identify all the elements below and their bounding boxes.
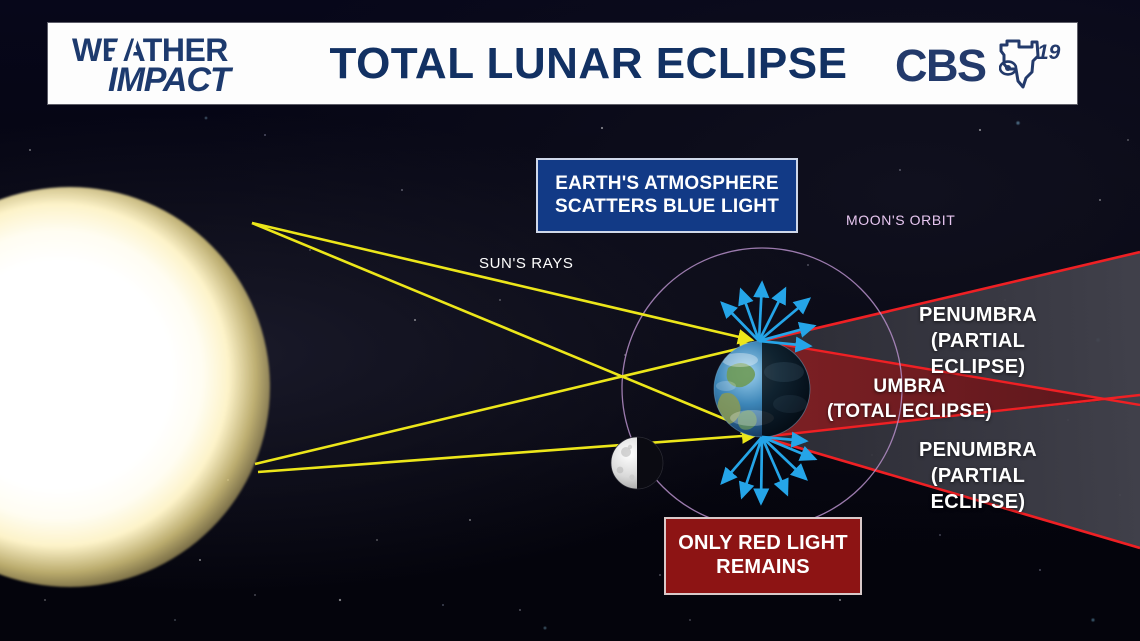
penumbra-top-label: PENUMBRA (PARTIAL ECLIPSE) bbox=[919, 302, 1037, 380]
umbra-label: UMBRA (TOTAL ECLIPSE) bbox=[827, 375, 992, 424]
penumbra-bottom-label: PENUMBRA (PARTIAL ECLIPSE) bbox=[919, 437, 1037, 515]
channel-number: 19 bbox=[1037, 41, 1060, 65]
suns-rays-label: SUN'S RAYS bbox=[479, 255, 573, 272]
impact-logo-text: IMPACT bbox=[108, 61, 230, 100]
moons-orbit-label: MOON'S ORBIT bbox=[846, 212, 955, 228]
page-title: TOTAL LUNAR ECLIPSE bbox=[296, 39, 891, 89]
red-light-callout: ONLY RED LIGHT REMAINS bbox=[664, 517, 862, 595]
cbs19-logo: CBS 19 bbox=[891, 23, 1077, 104]
atmosphere-callout: EARTH'S ATMOSPHERE SCATTERS BLUE LIGHT bbox=[536, 158, 798, 233]
weather-impact-logo: WEATHER IMPACT bbox=[48, 23, 296, 104]
moon bbox=[611, 437, 664, 490]
header-banner: WEATHER IMPACT TOTAL LUNAR ECLIPSE CBS 1… bbox=[48, 23, 1077, 104]
eclipse-graphic: SUN'S RAYS MOON'S ORBIT EARTH'S ATMOSPHE… bbox=[0, 0, 1140, 641]
cbs-wordmark: CBS bbox=[895, 40, 986, 92]
